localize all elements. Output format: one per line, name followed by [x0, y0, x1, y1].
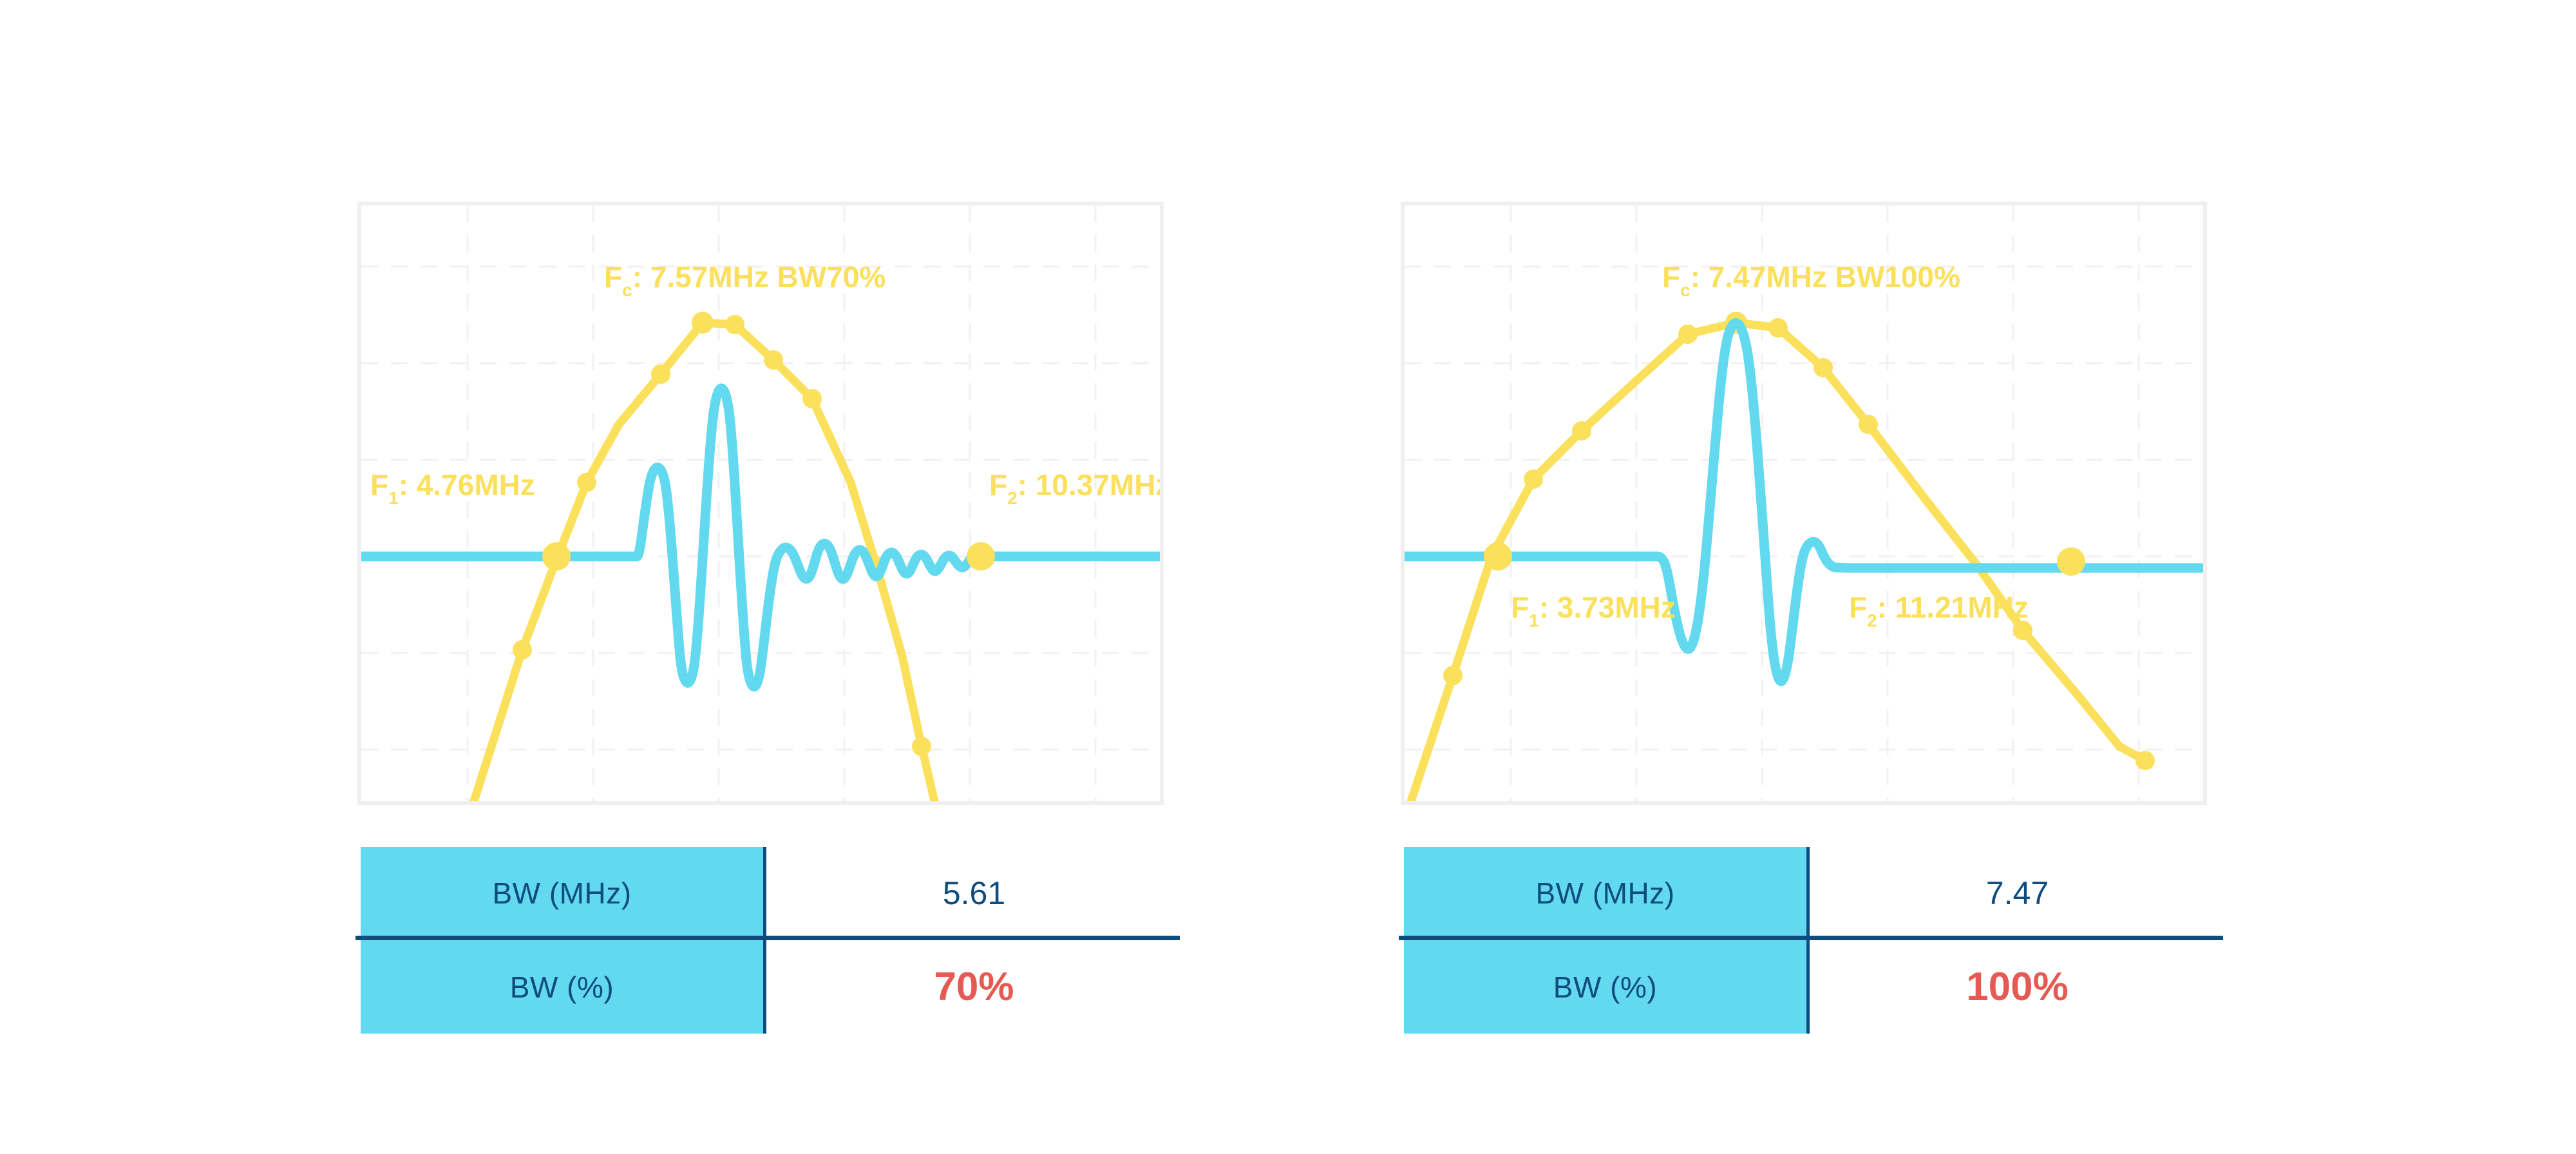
- left-f2-sub: 2: [1007, 488, 1018, 508]
- right-row1-label-cell: BW (%): [1404, 940, 1810, 1034]
- left-f1-sub: 1: [388, 488, 399, 508]
- left-table-row-divider: [355, 936, 1180, 940]
- table-row: BW (%) 100%: [1404, 940, 2225, 1034]
- left-chart-plot: Fc: 7.57MHz BW70% F1: 4.76MHz F2: 10.37M…: [361, 205, 1160, 801]
- table-row: BW (%) 70%: [361, 940, 1182, 1034]
- left-fc-rest: : 7.57MHz BW70%: [632, 260, 886, 294]
- left-chart-frame: Fc: 7.57MHz BW70% F1: 4.76MHz F2: 10.37M…: [357, 202, 1164, 805]
- left-bw-table: BW (MHz) 5.61 BW (%) 70%: [361, 847, 1182, 1034]
- left-row0-label-cell: BW (MHz): [361, 847, 766, 939]
- left-f2-rest: : 10.37MHz: [1018, 468, 1160, 502]
- left-f1-label: F1: 4.76MHz: [370, 468, 535, 508]
- left-f2-label: F2: 10.37MHz: [989, 468, 1160, 508]
- left-gridlines: [361, 205, 1160, 801]
- right-row1-value-cell: 100%: [1810, 940, 2225, 1034]
- right-spectrum-markers: [1443, 312, 2155, 770]
- right-chart-frame: Fc: 7.47MHz BW100% F1: 3.73MHz F2: 11.21…: [1401, 202, 2207, 805]
- right-fc-prefix: F: [1662, 260, 1680, 294]
- right-row0-label: BW (MHz): [1535, 876, 1674, 911]
- right-bw-table: BW (MHz) 7.47 BW (%) 100%: [1404, 847, 2225, 1034]
- right-f2-rest: : 11.21MHz: [1877, 591, 2029, 624]
- right-f1-prefix: F: [1511, 591, 1529, 624]
- right-row1-label: BW (%): [1553, 970, 1657, 1005]
- left-f2-prefix: F: [989, 468, 1007, 502]
- left-pulse-waveform: [361, 388, 1160, 686]
- left-row0-value-cell: 5.61: [766, 847, 1182, 939]
- right-spectrum-curve: [1411, 323, 2145, 801]
- left-fc-sub: c: [622, 280, 632, 300]
- left-row1-value: 70%: [934, 964, 1014, 1010]
- left-row1-label: BW (%): [510, 970, 614, 1005]
- left-fc-prefix: F: [604, 260, 622, 294]
- left-f1-prefix: F: [370, 468, 388, 502]
- right-fc-rest: : 7.47MHz BW100%: [1690, 260, 1960, 294]
- right-f2-sub: 2: [1867, 610, 1877, 630]
- left-row1-value-cell: 70%: [766, 940, 1182, 1034]
- right-fc-label: Fc: 7.47MHz BW100%: [1662, 260, 1960, 300]
- right-row0-label-cell: BW (MHz): [1404, 847, 1810, 939]
- right-f1-rest: : 3.73MHz: [1539, 591, 1676, 624]
- right-fc-sub: c: [1680, 280, 1690, 300]
- left-fc-label: Fc: 7.57MHz BW70%: [604, 260, 885, 300]
- right-f2-prefix: F: [1849, 591, 1867, 624]
- right-row0-value-cell: 7.47: [1810, 847, 2225, 939]
- right-row0-value: 7.47: [1986, 875, 2049, 912]
- right-chart-plot: Fc: 7.47MHz BW100% F1: 3.73MHz F2: 11.21…: [1405, 205, 2203, 801]
- left-f1-rest: : 4.76MHz: [399, 468, 535, 502]
- right-f1-sub: 1: [1529, 610, 1539, 630]
- table-row: BW (MHz) 7.47: [1404, 847, 2225, 939]
- table-row: BW (MHz) 5.61: [361, 847, 1182, 939]
- right-f2-label: F2: 11.21MHz: [1849, 591, 2029, 630]
- left-row1-label-cell: BW (%): [361, 940, 766, 1034]
- right-row1-value: 100%: [1966, 964, 2069, 1010]
- right-table-row-divider: [1399, 936, 2223, 940]
- left-row0-value: 5.61: [943, 875, 1005, 912]
- right-f1-label: F1: 3.73MHz: [1511, 591, 1676, 630]
- left-row0-label: BW (MHz): [492, 876, 631, 911]
